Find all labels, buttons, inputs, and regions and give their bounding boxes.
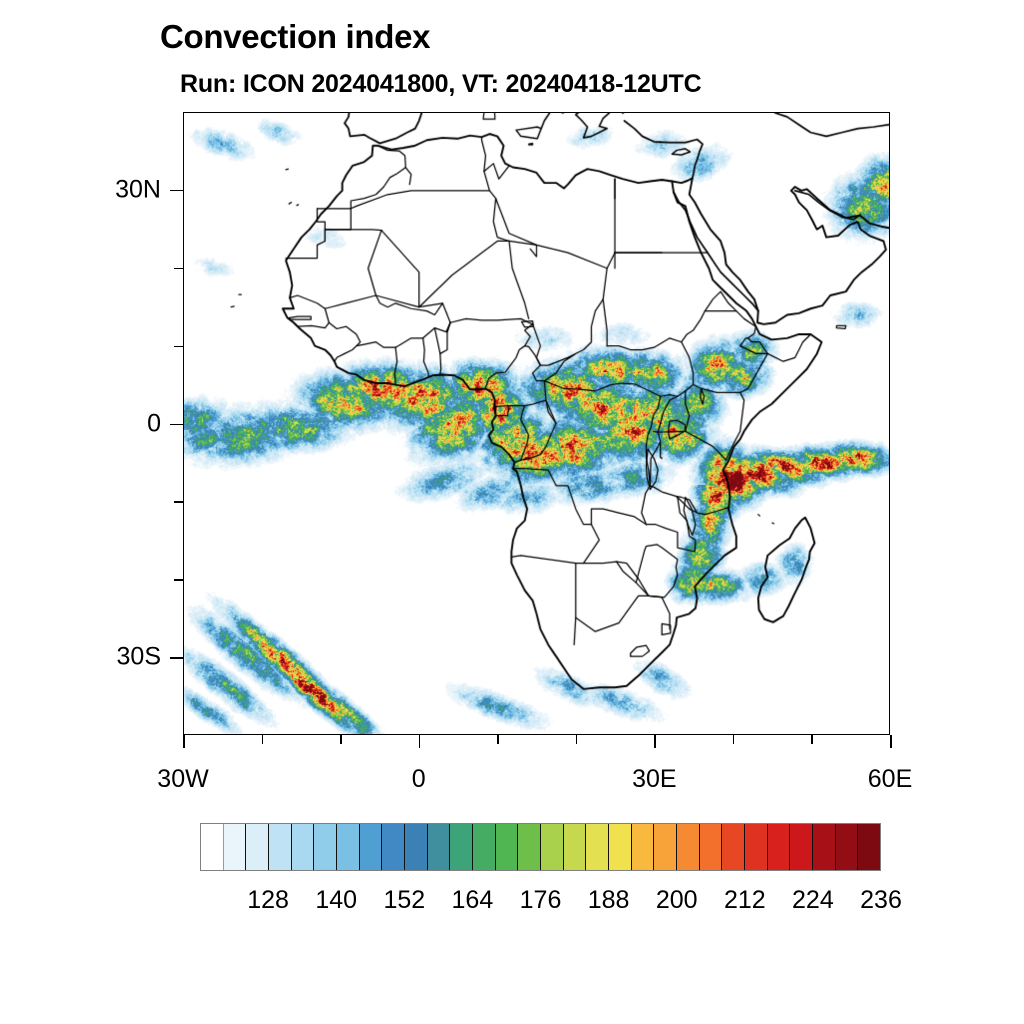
colorbar-cell <box>654 824 677 870</box>
map-plot-area <box>183 112 890 735</box>
y-tick-label: 0 <box>0 409 161 438</box>
colorbar-tick-label: 128 <box>247 886 289 915</box>
y-tick <box>174 346 183 347</box>
colorbar-cell <box>586 824 609 870</box>
colorbar-cell <box>858 824 880 870</box>
y-tick-label: 30S <box>0 643 161 672</box>
colorbar-cell <box>609 824 632 870</box>
colorbar-cell <box>836 824 859 870</box>
colorbar-cell <box>564 824 587 870</box>
colorbar-cell <box>201 824 224 870</box>
colorbar-tick-label: 200 <box>656 886 698 915</box>
x-tick <box>654 735 656 748</box>
colorbar-cell <box>768 824 791 870</box>
y-tick <box>174 501 183 502</box>
x-tick <box>733 735 734 744</box>
x-tick <box>811 735 812 744</box>
y-tick <box>174 579 183 580</box>
colorbar-cell <box>677 824 700 870</box>
y-tick <box>170 424 183 426</box>
colorbar-cell <box>246 824 269 870</box>
colorbar-tick-label: 188 <box>588 886 630 915</box>
x-tick-label: 30W <box>157 765 208 794</box>
colorbar-cell <box>337 824 360 870</box>
colorbar-tick-label: 164 <box>452 886 494 915</box>
colorbar-cell <box>518 824 541 870</box>
x-tick <box>419 735 421 748</box>
colorbar-cell <box>360 824 383 870</box>
colorbar-cell <box>722 824 745 870</box>
colorbar-cell <box>292 824 315 870</box>
colorbar-cell <box>473 824 496 870</box>
x-tick <box>497 735 498 744</box>
y-tick-label: 30N <box>0 175 161 204</box>
colorbar-cell <box>382 824 405 870</box>
colorbar-cell <box>813 824 836 870</box>
colorbar-cell <box>314 824 337 870</box>
x-tick <box>262 735 263 744</box>
colorbar <box>200 823 881 871</box>
x-tick-label: 30E <box>632 765 676 794</box>
colorbar-cell <box>450 824 473 870</box>
colorbar-cell <box>700 824 723 870</box>
x-tick <box>576 735 577 744</box>
colorbar-cell <box>496 824 519 870</box>
x-tick-label: 60E <box>868 765 912 794</box>
page-title: Convection index <box>160 18 430 56</box>
colorbar-cell <box>632 824 655 870</box>
colorbar-cell <box>405 824 428 870</box>
x-tick <box>183 735 185 748</box>
run-validtime-subtitle: Run: ICON 2024041800, VT: 20240418-12UTC <box>180 70 701 99</box>
colorbar-cell <box>790 824 813 870</box>
colorbar-tick-label: 176 <box>520 886 562 915</box>
colorbar-cell <box>745 824 768 870</box>
y-tick <box>170 190 183 192</box>
y-tick <box>174 268 183 269</box>
colorbar-tick-label: 236 <box>860 886 902 915</box>
colorbar-tick-label: 140 <box>315 886 357 915</box>
colorbar-cell <box>269 824 292 870</box>
colorbar-tick-label: 224 <box>792 886 834 915</box>
country-borders-overlay <box>184 113 889 734</box>
x-tick <box>890 735 892 748</box>
colorbar-tick-label: 152 <box>383 886 425 915</box>
x-tick <box>340 735 341 744</box>
y-tick <box>170 657 183 659</box>
colorbar-cell <box>428 824 451 870</box>
colorbar-cell <box>541 824 564 870</box>
x-tick-label: 0 <box>412 765 426 794</box>
colorbar-cell <box>224 824 247 870</box>
colorbar-tick-label: 212 <box>724 886 766 915</box>
